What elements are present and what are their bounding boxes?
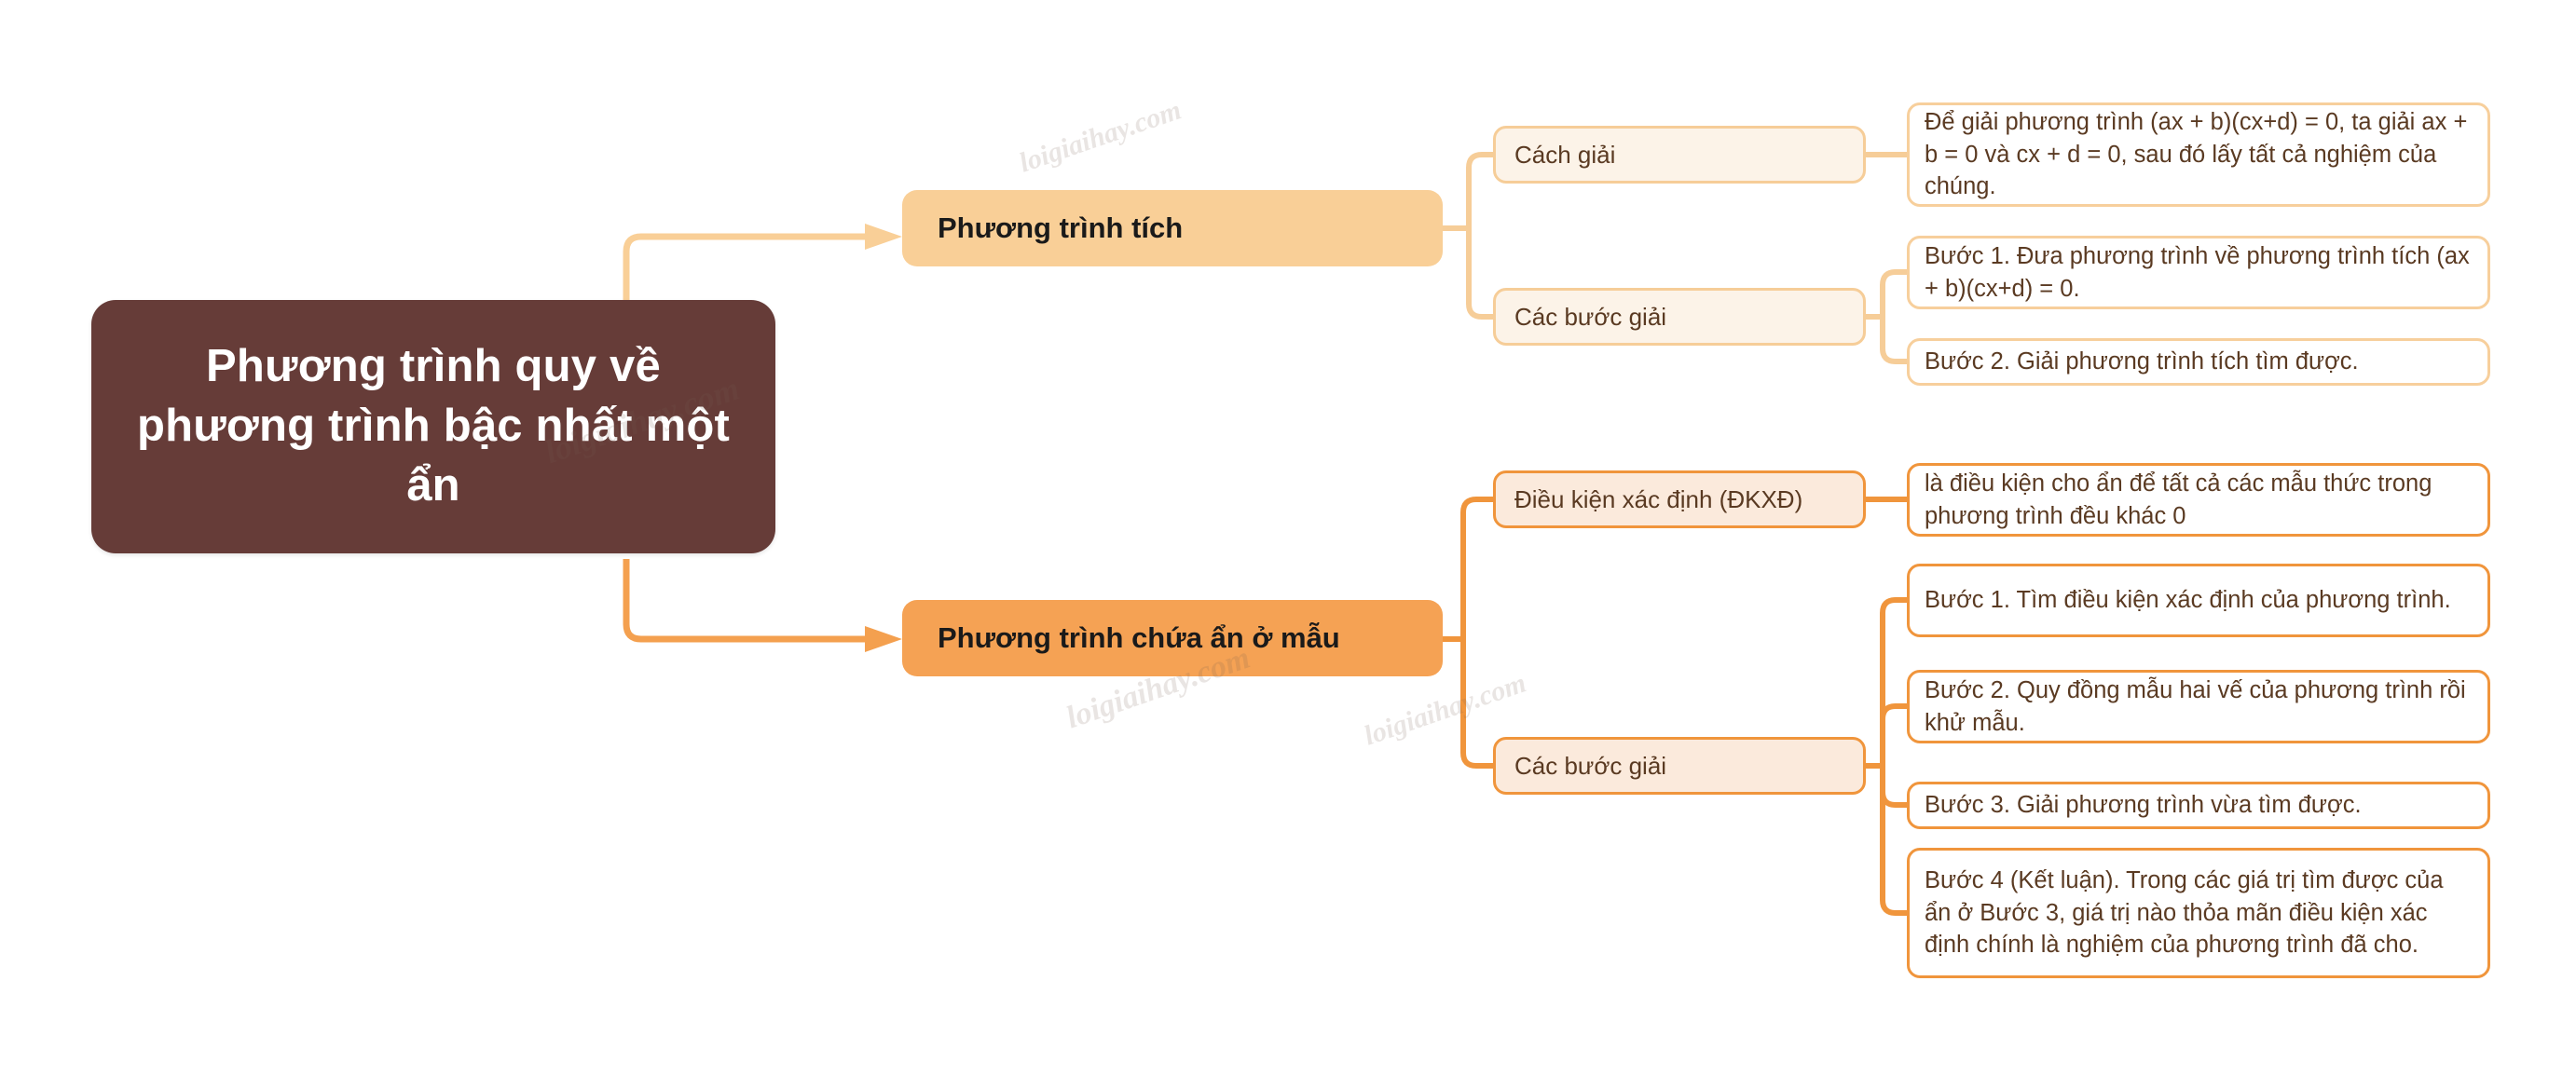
branch-node-phuong-trinh-chua-an-o-mau[interactable]: Phương trình chứa ẩn ở mẫu [902,600,1443,676]
connector-cac-buoc-giai-b-to-leaf-3 [1883,766,1907,805]
sub-node-dieu-kien-xac-dinh[interactable]: Điều kiện xác định (ĐKXĐ) [1493,470,1866,528]
leaf-node-text: Bước 2. Quy đồng mẫu hai vế của phương t… [1925,674,2473,739]
leaf-node-text: là điều kiện cho ẩn để tất cả các mẫu th… [1925,468,2473,532]
branch-node-label: Phương trình chứa ẩn ở mẫu [938,620,1407,657]
sub-node-label: Các bước giải [1514,302,1844,333]
leaf-node-dkxd-1[interactable]: là điều kiện cho ẩn để tất cả các mẫu th… [1907,463,2490,537]
watermark: loigiaihay.com [1015,94,1185,179]
connector-branch-a-to-cach-giai [1469,155,1493,228]
connector-root-to-branch-b [626,559,867,639]
root-node-label: Phương trình quy về phương trình bậc nhấ… [117,337,749,515]
sub-node-label: Điều kiện xác định (ĐKXĐ) [1514,484,1844,515]
leaf-node-text: Để giải phương trình (ax + b)(cx+d) = 0,… [1925,106,2473,203]
leaf-node-text: Bước 4 (Kết luận). Trong các giá trị tìm… [1925,865,2473,961]
connector-cac-buoc-giai-b-to-leaf-2 [1883,706,1907,766]
sub-node-cac-buoc-giai-tich[interactable]: Các bước giải [1493,288,1866,346]
connector-branch-a-to-cac-buoc-giai [1469,228,1493,317]
connector-cac-buoc-giai-b-to-leaf-1 [1883,600,1907,766]
leaf-node-mau-buoc-1[interactable]: Bước 1. Tìm điều kiện xác định của phươn… [1907,564,2490,637]
leaf-node-text: Bước 1. Tìm điều kiện xác định của phươn… [1925,584,2473,617]
leaf-node-tich-buoc-2[interactable]: Bước 2. Giải phương trình tích tìm được. [1907,338,2490,386]
connector-branch-b-to-dkxd [1463,499,1493,639]
leaf-node-text: Bước 2. Giải phương trình tích tìm được. [1925,346,2473,378]
sub-node-cac-buoc-giai-mau[interactable]: Các bước giải [1493,737,1866,795]
connector-branch-b-to-cac-buoc-giai [1463,639,1493,766]
connector-cac-buoc-giai-a-to-leaf-1 [1883,272,1907,317]
leaf-node-mau-buoc-4[interactable]: Bước 4 (Kết luận). Trong các giá trị tìm… [1907,848,2490,978]
leaf-node-tich-buoc-1[interactable]: Bước 1. Đưa phương trình về phương trình… [1907,236,2490,309]
leaf-node-mau-buoc-3[interactable]: Bước 3. Giải phương trình vừa tìm được. [1907,782,2490,829]
leaf-node-cach-giai-1[interactable]: Để giải phương trình (ax + b)(cx+d) = 0,… [1907,102,2490,207]
leaf-node-mau-buoc-2[interactable]: Bước 2. Quy đồng mẫu hai vế của phương t… [1907,670,2490,743]
arrowhead-branch-a [865,224,902,250]
branch-node-phuong-trinh-tich[interactable]: Phương trình tích [902,190,1443,266]
mindmap-canvas: Phương trình quy về phương trình bậc nhấ… [0,0,2576,1090]
connector-cac-buoc-giai-a-to-leaf-2 [1883,317,1907,361]
sub-node-label: Cách giải [1514,140,1844,170]
root-node[interactable]: Phương trình quy về phương trình bậc nhấ… [91,300,775,553]
connector-cac-buoc-giai-b-to-leaf-4 [1883,766,1907,913]
sub-node-label: Các bước giải [1514,751,1844,782]
branch-node-label: Phương trình tích [938,210,1407,247]
leaf-node-text: Bước 3. Giải phương trình vừa tìm được. [1925,789,2473,822]
arrowhead-branch-b [865,626,902,652]
sub-node-cach-giai[interactable]: Cách giải [1493,126,1866,184]
leaf-node-text: Bước 1. Đưa phương trình về phương trình… [1925,240,2473,305]
